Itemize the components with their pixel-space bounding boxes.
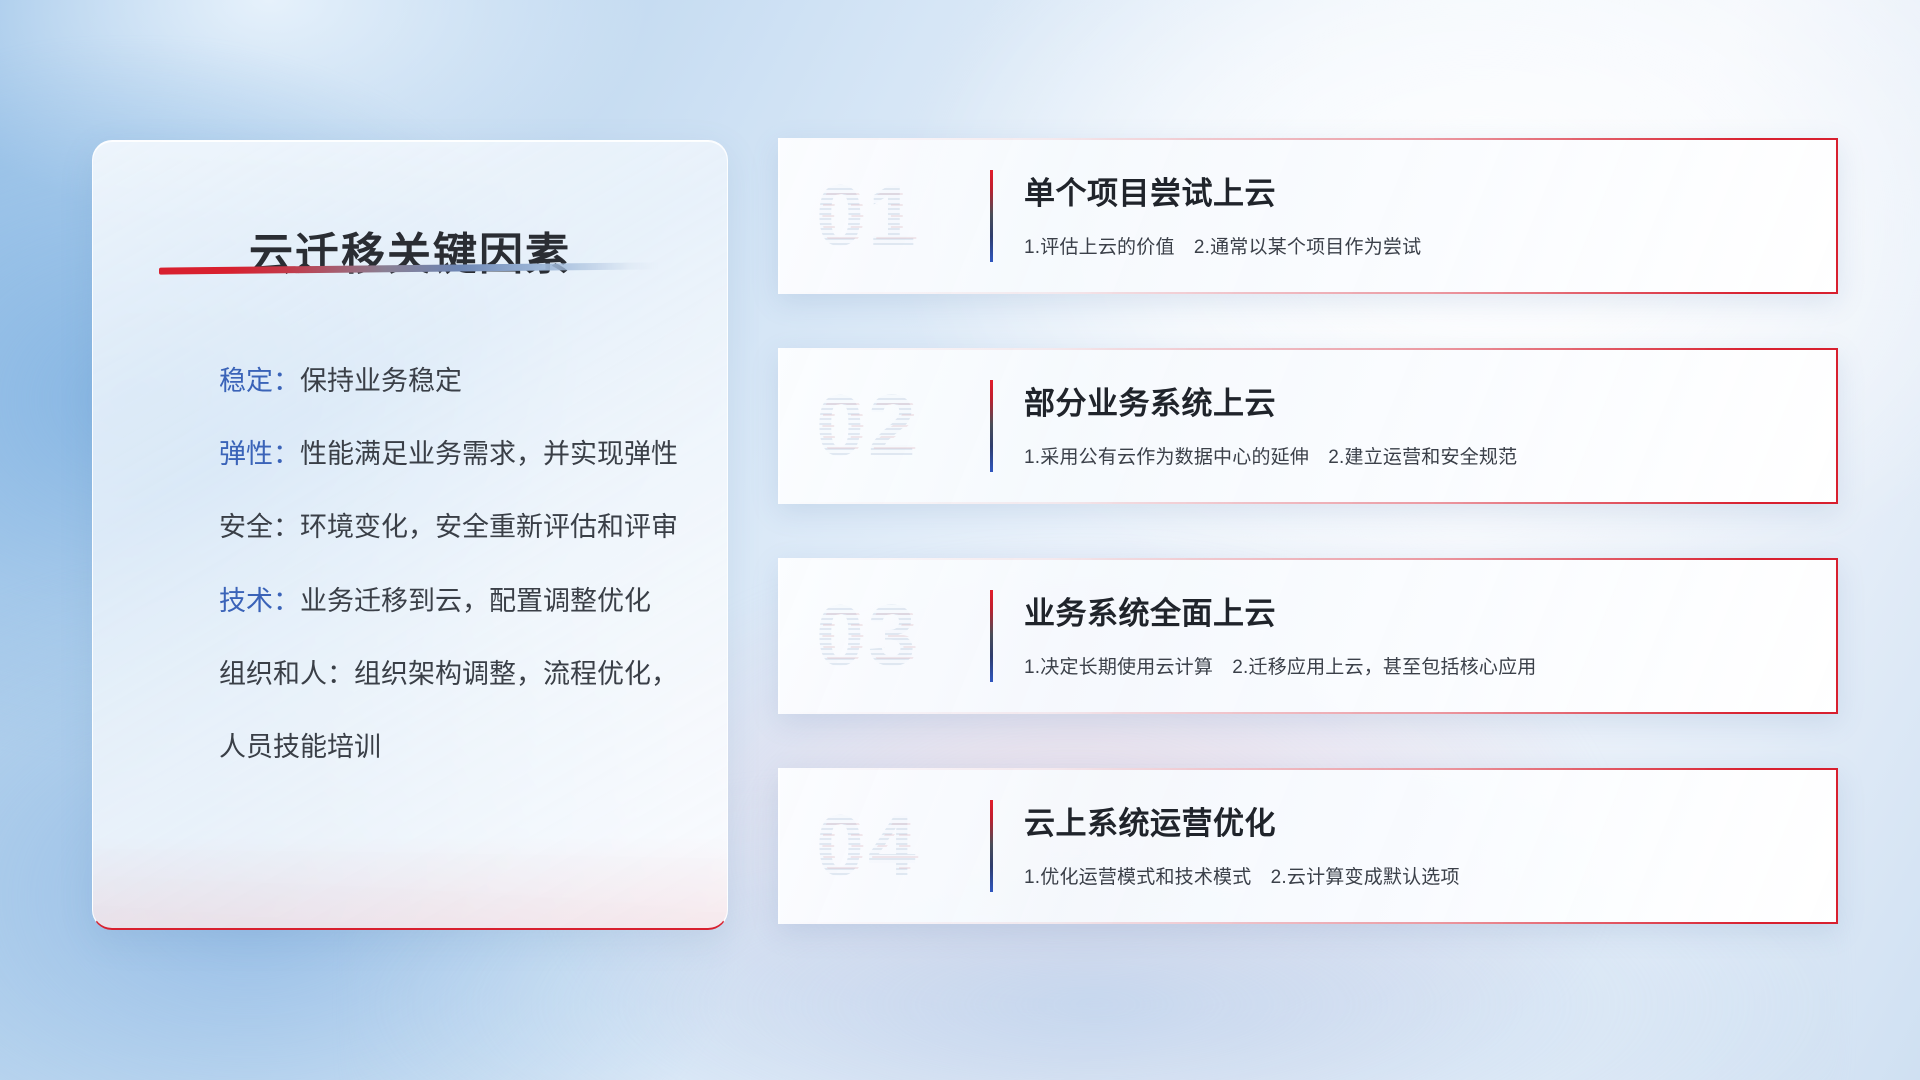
card-right-accent xyxy=(1836,348,1838,504)
slide-canvas: 云迁移关键因素 稳定：保持业务稳定 弹性：性能满足业务需求，并实现弹性 安全：环… xyxy=(0,0,1920,1080)
card-top-accent xyxy=(778,768,1838,770)
stage-number: 04 xyxy=(816,803,920,889)
list-item-key: 稳定： xyxy=(219,366,300,396)
list-item-key: 弹性： xyxy=(219,439,300,469)
card-divider-bar xyxy=(990,800,993,892)
key-factors-panel: 云迁移关键因素 稳定：保持业务稳定 弹性：性能满足业务需求，并实现弹性 安全：环… xyxy=(92,140,728,930)
key-factors-list: 稳定：保持业务稳定 弹性：性能满足业务需求，并实现弹性 安全：环境变化，安全重新… xyxy=(219,363,683,765)
stage-card[interactable]: 03 03 业务系统全面上云 1.决定长期使用云计算 2.迁移应用上云，甚至包括… xyxy=(778,558,1838,714)
card-left-edge xyxy=(778,138,780,294)
stage-number: 01 xyxy=(816,173,920,259)
list-item-key: 技术： xyxy=(219,586,300,616)
card-bottom-accent xyxy=(778,712,1838,714)
card-top-accent xyxy=(778,138,1838,140)
stage-card[interactable]: 02 02 部分业务系统上云 1.采用公有云作为数据中心的延伸 2.建立运营和安… xyxy=(778,348,1838,504)
card-right-accent xyxy=(1836,558,1838,714)
stage-number: 03 xyxy=(816,593,920,679)
list-item-text: 环境变化，安全重新评估和评审 xyxy=(300,512,678,542)
stage-card[interactable]: 04 04 云上系统运营优化 1.优化运营模式和技术模式 2.云计算变成默认选项 xyxy=(778,768,1838,924)
card-bottom-accent xyxy=(778,502,1838,504)
list-item-text: 组织架构调整，流程优化， xyxy=(354,659,678,689)
card-description: 1.优化运营模式和技术模式 2.云计算变成默认选项 xyxy=(1024,862,1798,889)
card-body: 云上系统运营优化 1.优化运营模式和技术模式 2.云计算变成默认选项 xyxy=(1024,798,1798,908)
card-top-accent xyxy=(778,558,1838,560)
card-divider-bar xyxy=(990,380,993,472)
card-title: 云上系统运营优化 xyxy=(1024,798,1798,843)
list-item: 弹性：性能满足业务需求，并实现弹性 xyxy=(219,436,683,472)
card-left-edge xyxy=(778,558,780,714)
card-description: 1.评估上云的价值 2.通常以某个项目作为尝试 xyxy=(1024,232,1798,259)
list-item-key: 安全： xyxy=(219,512,300,542)
card-title: 部分业务系统上云 xyxy=(1024,378,1798,423)
card-body: 业务系统全面上云 1.决定长期使用云计算 2.迁移应用上云，甚至包括核心应用 xyxy=(1024,588,1798,698)
card-bottom-accent xyxy=(778,922,1838,924)
card-description: 1.决定长期使用云计算 2.迁移应用上云，甚至包括核心应用 xyxy=(1024,652,1798,679)
card-title: 业务系统全面上云 xyxy=(1024,588,1798,633)
card-left-edge xyxy=(778,768,780,924)
card-left-edge xyxy=(778,348,780,504)
migration-stage-cards: 01 01 单个项目尝试上云 1.评估上云的价值 2.通常以某个项目作为尝试 0… xyxy=(778,138,1838,924)
list-item: 稳定：保持业务稳定 xyxy=(219,363,683,399)
card-bottom-accent xyxy=(778,292,1838,294)
stage-number: 02 xyxy=(816,383,920,469)
card-title: 单个项目尝试上云 xyxy=(1024,168,1798,213)
stage-card[interactable]: 01 01 单个项目尝试上云 1.评估上云的价值 2.通常以某个项目作为尝试 xyxy=(778,138,1838,294)
list-item-text: 保持业务稳定 xyxy=(300,366,462,396)
list-item-continuation: 人员技能培训 xyxy=(219,729,683,765)
card-divider-bar xyxy=(990,590,993,682)
list-item-text: 业务迁移到云，配置调整优化 xyxy=(300,586,651,616)
list-item: 技术：业务迁移到云，配置调整优化 xyxy=(219,583,683,619)
card-body: 单个项目尝试上云 1.评估上云的价值 2.通常以某个项目作为尝试 xyxy=(1024,168,1798,278)
list-item-key: 组织和人： xyxy=(219,659,354,689)
list-item: 安全：环境变化，安全重新评估和评审 xyxy=(219,509,683,545)
card-right-accent xyxy=(1836,138,1838,294)
list-item-text: 性能满足业务需求，并实现弹性 xyxy=(300,439,678,469)
card-body: 部分业务系统上云 1.采用公有云作为数据中心的延伸 2.建立运营和安全规范 xyxy=(1024,378,1798,488)
card-description: 1.采用公有云作为数据中心的延伸 2.建立运营和安全规范 xyxy=(1024,442,1798,469)
card-right-accent xyxy=(1836,768,1838,924)
card-top-accent xyxy=(778,348,1838,350)
card-divider-bar xyxy=(990,170,993,262)
list-item: 组织和人：组织架构调整，流程优化， xyxy=(219,656,683,692)
list-item-text: 人员技能培训 xyxy=(219,732,381,762)
